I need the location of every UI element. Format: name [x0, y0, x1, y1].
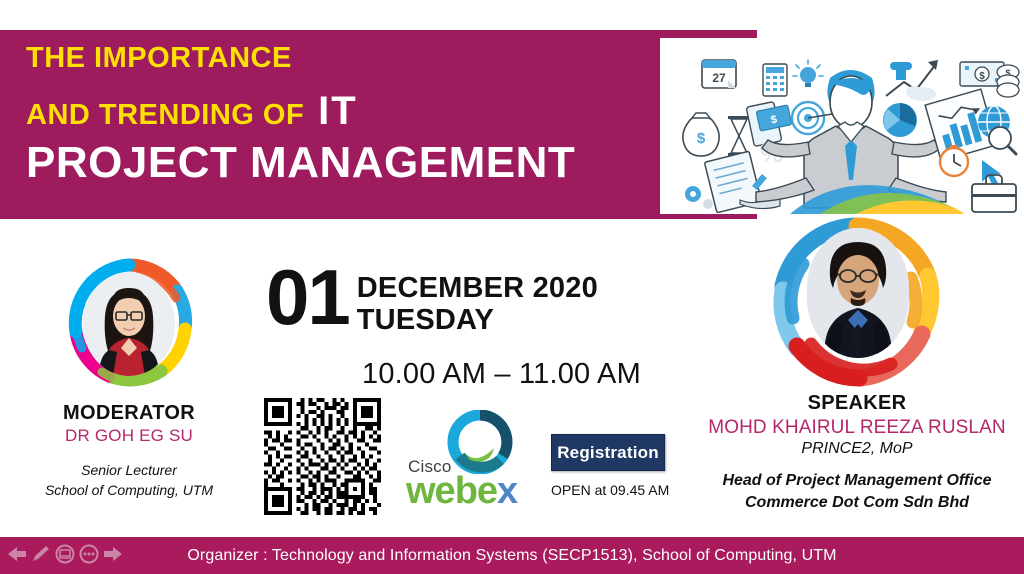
pencil-icon — [30, 544, 52, 564]
title-line-1: THE IMPORTANCE — [26, 44, 666, 73]
event-date-block: 01 DECEMBER 2020 TUESDAY — [266, 266, 598, 337]
moderator-name: DR GOH EG SU — [0, 426, 258, 446]
project-management-businessman-illustration: 27 — [660, 38, 1024, 214]
svg-text:27: 27 — [712, 71, 726, 85]
cisco-webex-logo: Cisco webex — [404, 414, 534, 514]
webex-word-green: webe — [406, 470, 497, 512]
speaker-name: MOHD KHAIRUL REEZA RUSLAN — [690, 417, 1024, 439]
speaker-role-line-1: Head of Project Management Office — [690, 470, 1024, 492]
speaker-block: SPEAKER MOHD KHAIRUL REEZA RUSLAN PRINCE… — [690, 216, 1024, 513]
moderator-position: Senior Lecturer — [0, 460, 258, 480]
speaker-certifications: PRINCE2, MoP — [690, 440, 1024, 458]
calculator-icon — [763, 64, 787, 96]
event-day-number: 01 — [266, 266, 349, 330]
registration-open-note: OPEN at 09.45 AM — [551, 482, 669, 498]
svg-text:$: $ — [979, 71, 985, 82]
webex-word-blue: x — [497, 470, 517, 512]
moderator-block: MODERATOR DR GOH EG SU Senior Lecturer S… — [0, 250, 258, 501]
title-line-2-row: AND TRENDING OF IT — [26, 91, 666, 131]
forward-arrow-icon — [102, 544, 124, 564]
event-date-text: DECEMBER 2020 TUESDAY — [357, 266, 598, 337]
organizer-text: Organizer : Technology and Information S… — [0, 537, 1024, 574]
registration-button[interactable]: Registration — [551, 434, 665, 471]
speaker-role-line-2: Commerce Dot Com Sdn Bhd — [690, 492, 1024, 514]
speaker-role-details: Head of Project Management Office Commer… — [690, 470, 1024, 513]
pie-chart-icon — [883, 103, 917, 137]
moderator-details: Senior Lecturer School of Computing, UTM — [0, 460, 258, 501]
footer-bar: Organizer : Technology and Information S… — [0, 537, 1024, 574]
event-weekday: TUESDAY — [357, 304, 598, 336]
moderator-avatar — [62, 256, 196, 390]
registration-button-label: Registration — [557, 443, 659, 463]
svg-text:$: $ — [697, 130, 706, 147]
event-time: 10.00 AM – 11.00 AM — [362, 358, 641, 391]
title-it-highlight: IT — [318, 91, 358, 131]
presentation-slide: THE IMPORTANCE AND TRENDING OF IT PROJEC… — [0, 0, 1024, 574]
title-line-3: PROJECT MANAGEMENT — [26, 141, 666, 185]
slide-title-block: THE IMPORTANCE AND TRENDING OF IT PROJEC… — [26, 44, 666, 185]
speaker-role-label: SPEAKER — [690, 392, 1024, 415]
moderator-affiliation: School of Computing, UTM — [0, 480, 258, 500]
screen-icon — [54, 544, 76, 564]
registration-qr-code[interactable] — [264, 398, 381, 515]
title-line-2: AND TRENDING OF — [26, 101, 304, 130]
coins-icon: $ — [997, 65, 1019, 97]
slideshow-nav-controls[interactable] — [6, 544, 124, 564]
calendar-icon: 27 — [702, 60, 736, 88]
speaker-avatar — [771, 216, 943, 388]
speaker-photo — [807, 228, 909, 358]
moderator-photo — [83, 272, 175, 376]
event-month-year: DECEMBER 2020 — [357, 272, 598, 304]
webex-wordmark: webex — [406, 472, 517, 510]
menu-dots-icon — [78, 544, 100, 564]
moderator-role-label: MODERATOR — [0, 402, 258, 425]
back-arrow-icon — [6, 544, 28, 564]
